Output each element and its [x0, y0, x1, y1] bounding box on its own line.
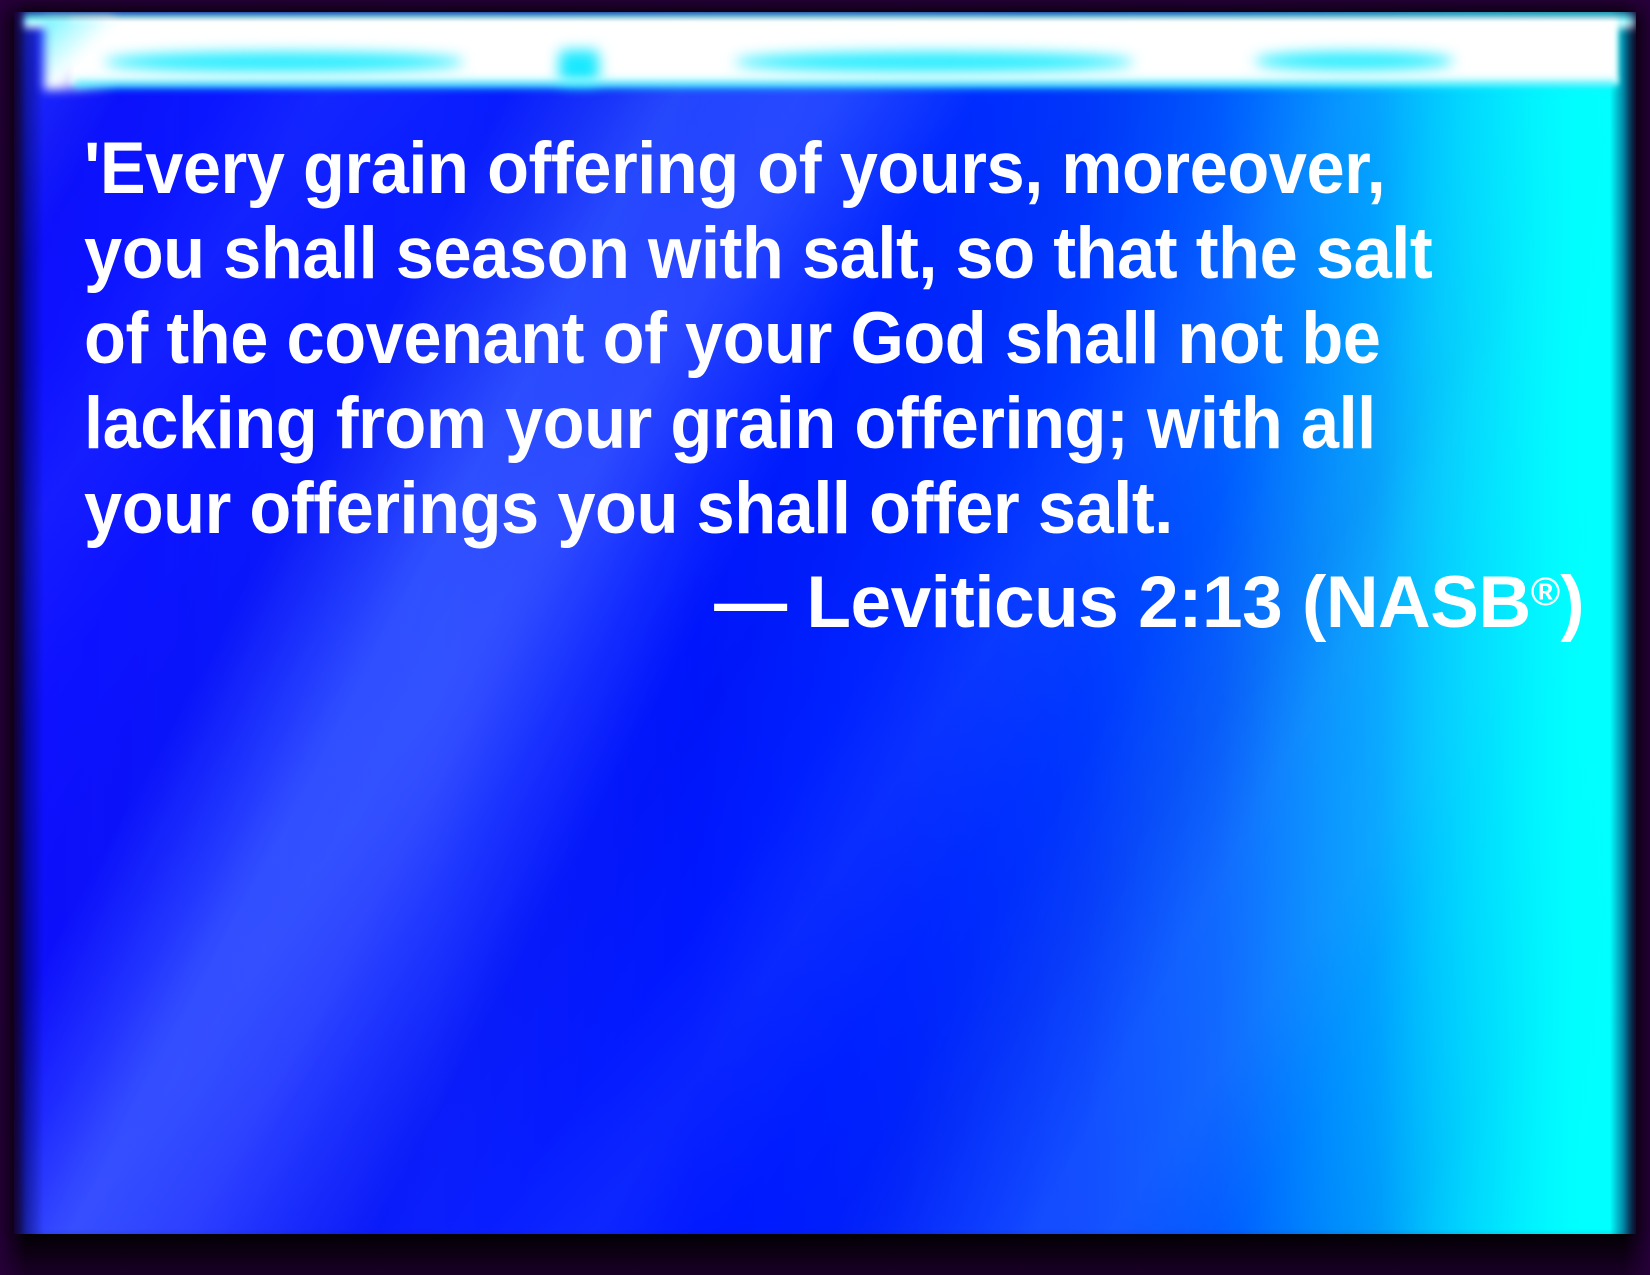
registered-trademark-icon: ®: [1531, 570, 1560, 614]
banner-white-fill: [70, 18, 1618, 84]
verse-slide: 'Every grain offering of yours, moreover…: [0, 0, 1650, 1275]
attribution-em-dash: —: [714, 562, 787, 643]
banner-accent-blob-4: [1254, 52, 1454, 70]
attribution-open-paren: (: [1302, 562, 1326, 643]
banner-accent-blob-1: [104, 52, 464, 72]
attribution-spacer-2: [1118, 562, 1138, 643]
verse-line-3: of the covenant of your God shall not be: [84, 296, 1494, 381]
attribution-chapter-verse: 2:13: [1138, 562, 1282, 643]
top-banner: [14, 12, 1636, 90]
attribution-spacer-1: [787, 562, 807, 643]
slide-canvas: 'Every grain offering of yours, moreover…: [14, 12, 1636, 1234]
attribution-close-paren: ): [1560, 562, 1584, 643]
verse-text-block: 'Every grain offering of yours, moreover…: [84, 126, 1584, 551]
verse-line-5: your offerings you shall offer salt.: [84, 466, 1494, 551]
verse-line-4: lacking from your grain offering; with a…: [84, 381, 1494, 466]
attribution-book: Leviticus: [806, 562, 1118, 643]
verse-attribution: — Leviticus 2:13 (NASB®): [84, 550, 1584, 645]
banner-accent-blob-3: [734, 52, 1134, 72]
attribution-translation: NASB: [1326, 562, 1531, 643]
verse-line-1: 'Every grain offering of yours, moreover…: [84, 126, 1494, 211]
attribution-spacer-3: [1282, 562, 1302, 643]
background-right-vignette: [1610, 12, 1636, 1234]
verse-line-2: you shall season with salt, so that the …: [84, 211, 1494, 296]
background-left-vignette: [14, 12, 44, 1234]
banner-cyan-bottom-edge: [74, 76, 1616, 88]
